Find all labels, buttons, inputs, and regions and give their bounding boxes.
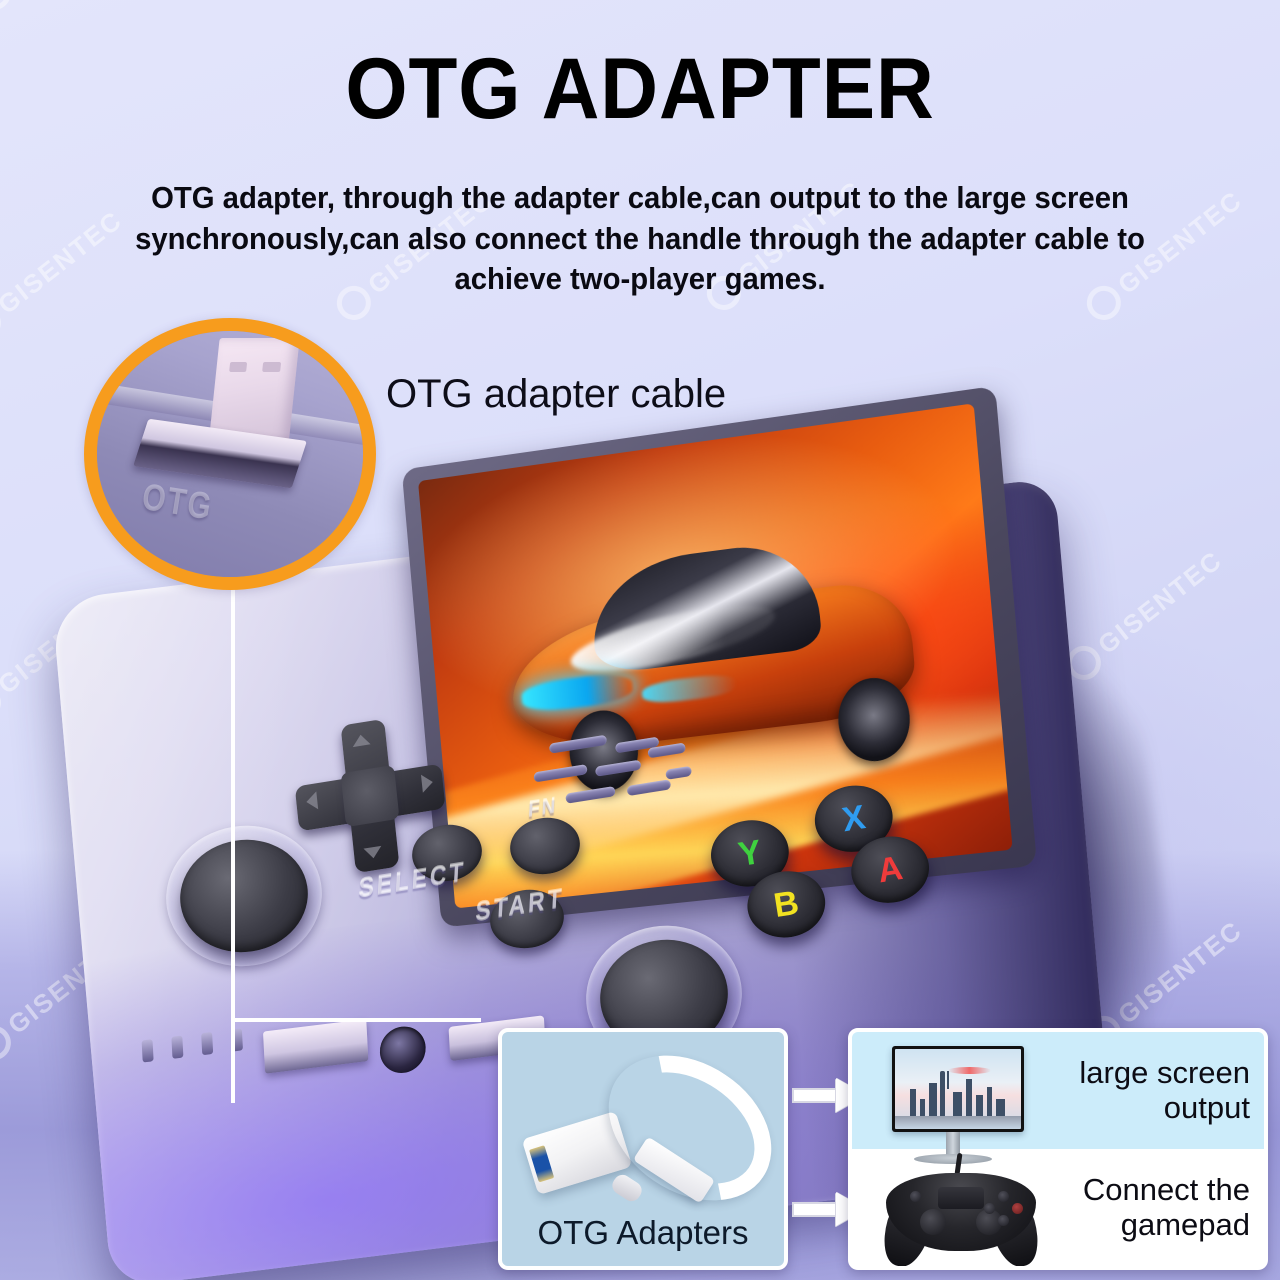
gamepad-caption-line1: Connect the: [1062, 1173, 1250, 1208]
otg-adapter-panel: OTG Adapters: [498, 1028, 788, 1270]
otg-panel-caption: OTG Adapters: [502, 1214, 784, 1252]
connect-gamepad-row: Connect the gamepad: [852, 1149, 1264, 1266]
button-x-label: X: [839, 798, 868, 840]
large-screen-output-row: large screen output: [852, 1032, 1264, 1149]
large-screen-output-caption: large screen output: [1062, 1056, 1264, 1125]
watermark: GISENTEC: [0, 0, 140, 17]
gamepad-caption-line2: gamepad: [1062, 1208, 1250, 1243]
output-options-panel: large screen output: [848, 1028, 1268, 1270]
monitor-icon: [852, 1032, 1062, 1149]
dpad-left-icon: [306, 791, 319, 811]
left-analog-stick[interactable]: [172, 831, 316, 962]
page-title: OTG ADAPTER: [45, 46, 1235, 132]
dpad-center: [341, 765, 399, 826]
page-description: OTG adapter, through the adapter cable,c…: [110, 178, 1170, 300]
otg-port-magnifier: OTG: [84, 318, 376, 590]
button-a-label: A: [875, 849, 905, 891]
cable-arc: [581, 1028, 788, 1230]
usb-c-tip: [609, 1171, 645, 1204]
callout-leader-box: [231, 1018, 481, 1103]
gamepad-icon: [852, 1149, 1062, 1266]
infographic-stage: GISENTEC GISENTEC GISENTEC GISENTEC GISE…: [0, 0, 1280, 1280]
connect-gamepad-caption: Connect the gamepad: [1062, 1173, 1264, 1242]
button-b-label: B: [771, 883, 801, 925]
button-y-label: Y: [736, 832, 765, 874]
watermark: GISENTEC: [1100, 0, 1270, 7]
callout-leader-line-vertical: [231, 583, 235, 1103]
dpad-right-icon: [421, 773, 434, 793]
large-screen-caption-line2: output: [1062, 1091, 1250, 1126]
otg-cable-image: [516, 1058, 778, 1208]
large-screen-caption-line1: large screen: [1062, 1056, 1250, 1091]
callout-label: OTG adapter cable: [386, 372, 726, 417]
